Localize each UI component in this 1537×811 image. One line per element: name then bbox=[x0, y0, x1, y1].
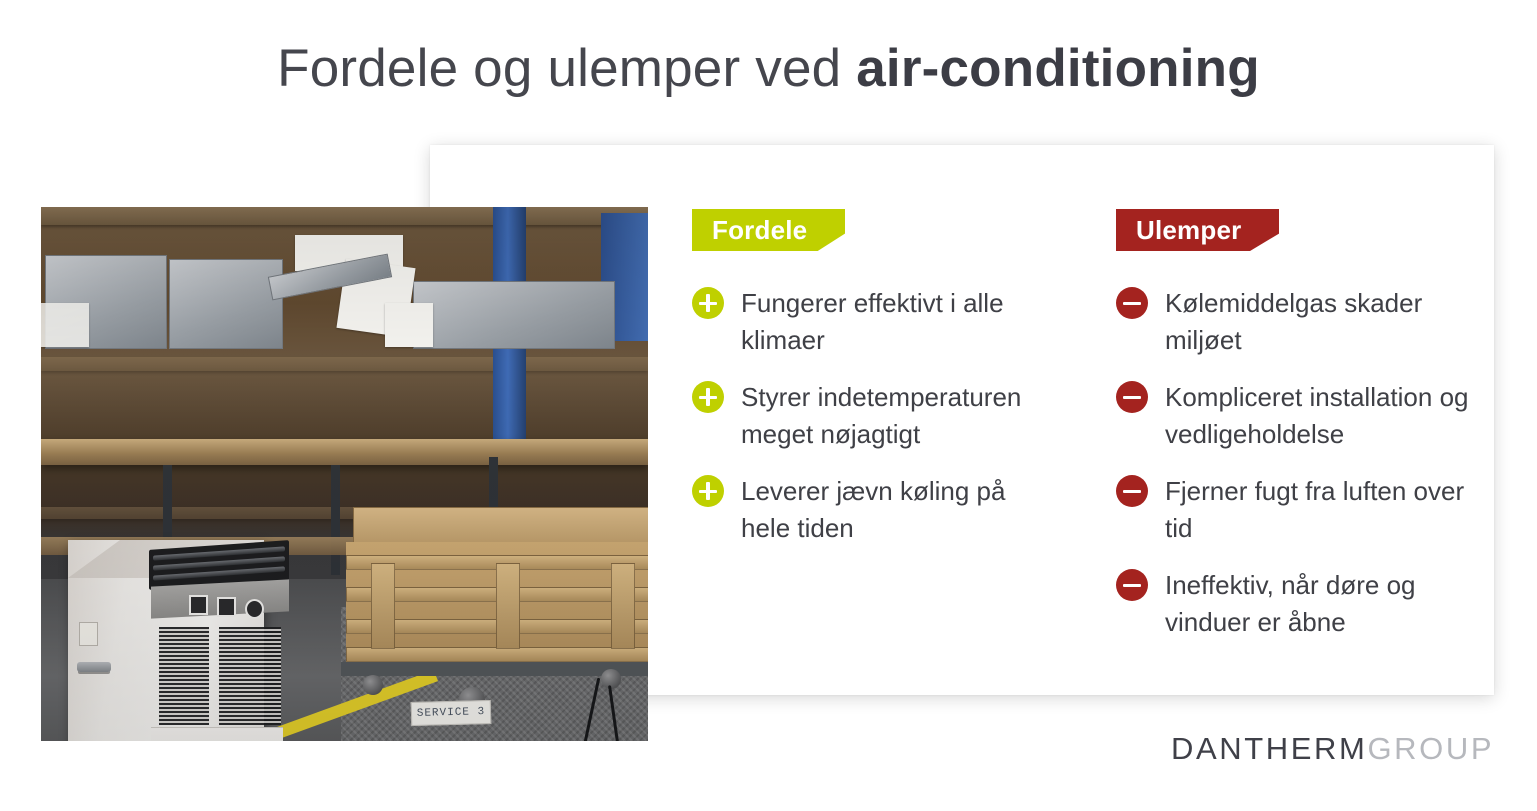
photo-pallet-block bbox=[611, 563, 635, 649]
cons-item-text: Ineffektiv, når døre og vinduer er åbne bbox=[1165, 567, 1471, 641]
photo-wall-board bbox=[41, 207, 648, 225]
photo-pallet-block bbox=[496, 563, 520, 649]
list-item: Kompliceret installation og vedligeholde… bbox=[1116, 379, 1471, 453]
photo-ac-lower-panel bbox=[151, 727, 283, 741]
logo-primary-text: DANTHERM bbox=[1171, 731, 1367, 766]
photo-shelf bbox=[41, 439, 648, 465]
photo-pallet-block bbox=[371, 563, 395, 649]
page-title-lead: Fordele og ulemper ved bbox=[277, 39, 856, 98]
photo-wall-board bbox=[41, 357, 648, 371]
page-title: Fordele og ulemper ved air-conditioning bbox=[0, 38, 1537, 100]
product-photo: SERVICE 3 bbox=[41, 207, 648, 741]
cons-badge: Ulemper bbox=[1116, 209, 1279, 251]
cons-item-text: Kølemiddelgas skader miljøet bbox=[1165, 285, 1471, 359]
photo-ac-label bbox=[79, 622, 98, 646]
plus-circle-icon bbox=[692, 475, 724, 507]
photo-metal-box bbox=[169, 259, 283, 349]
logo-secondary-text: GROUP bbox=[1367, 731, 1494, 766]
photo-ac-switch bbox=[245, 599, 264, 619]
photo-metal-box bbox=[413, 281, 615, 349]
pros-badge: Fordele bbox=[692, 209, 845, 251]
cons-list: Kølemiddelgas skader miljøet Kompliceret… bbox=[1116, 285, 1471, 641]
list-item: Kølemiddelgas skader miljøet bbox=[1116, 285, 1471, 359]
list-item: Leverer jævn køling på hele tiden bbox=[692, 473, 1032, 547]
minus-circle-icon bbox=[1116, 569, 1148, 601]
photo-ac-handle bbox=[77, 662, 111, 672]
plus-circle-icon bbox=[692, 381, 724, 413]
pros-item-text: Styrer indetemperaturen meget nøjagtigt bbox=[741, 379, 1032, 453]
minus-circle-icon bbox=[1116, 475, 1148, 507]
photo-ac-vent-grille bbox=[159, 627, 209, 725]
photo-paper bbox=[41, 303, 89, 347]
minus-circle-icon bbox=[1116, 287, 1148, 319]
photo-castor bbox=[363, 675, 383, 695]
list-item: Fjerner fugt fra luften over tid bbox=[1116, 473, 1471, 547]
photo-pallet-slat bbox=[346, 647, 648, 662]
photo-service-sign: SERVICE 3 bbox=[411, 700, 492, 726]
minus-circle-icon bbox=[1116, 381, 1148, 413]
photo-ac-switch bbox=[217, 597, 236, 617]
cons-column: Ulemper Kølemiddelgas skader miljøet Kom… bbox=[1116, 209, 1471, 661]
pros-item-text: Leverer jævn køling på hele tiden bbox=[741, 473, 1032, 547]
list-item: Styrer indetemperaturen meget nøjagtigt bbox=[692, 379, 1032, 453]
pros-list: Fungerer effektivt i alle klimaer Styrer… bbox=[692, 285, 1032, 547]
cons-item-text: Fjerner fugt fra luften over tid bbox=[1165, 473, 1471, 547]
cons-item-text: Kompliceret installation og vedligeholde… bbox=[1165, 379, 1471, 453]
pros-column: Fordele Fungerer effektivt i alle klimae… bbox=[692, 209, 1032, 567]
list-item: Ineffektiv, når døre og vinduer er åbne bbox=[1116, 567, 1471, 641]
dantherm-group-logo: DANTHERMGROUP bbox=[1171, 731, 1494, 767]
plus-circle-icon bbox=[692, 287, 724, 319]
page-title-emphasis: air-conditioning bbox=[856, 39, 1260, 98]
photo-shelf-leg bbox=[331, 465, 340, 575]
photo-paper bbox=[385, 303, 433, 347]
list-item: Fungerer effektivt i alle klimaer bbox=[692, 285, 1032, 359]
slide-canvas: Fordele og ulemper ved air-conditioning bbox=[0, 0, 1537, 811]
photo-ac-vent-grille bbox=[219, 627, 281, 725]
pros-item-text: Fungerer effektivt i alle klimaer bbox=[741, 285, 1032, 359]
photo-ac-switch bbox=[189, 595, 208, 615]
